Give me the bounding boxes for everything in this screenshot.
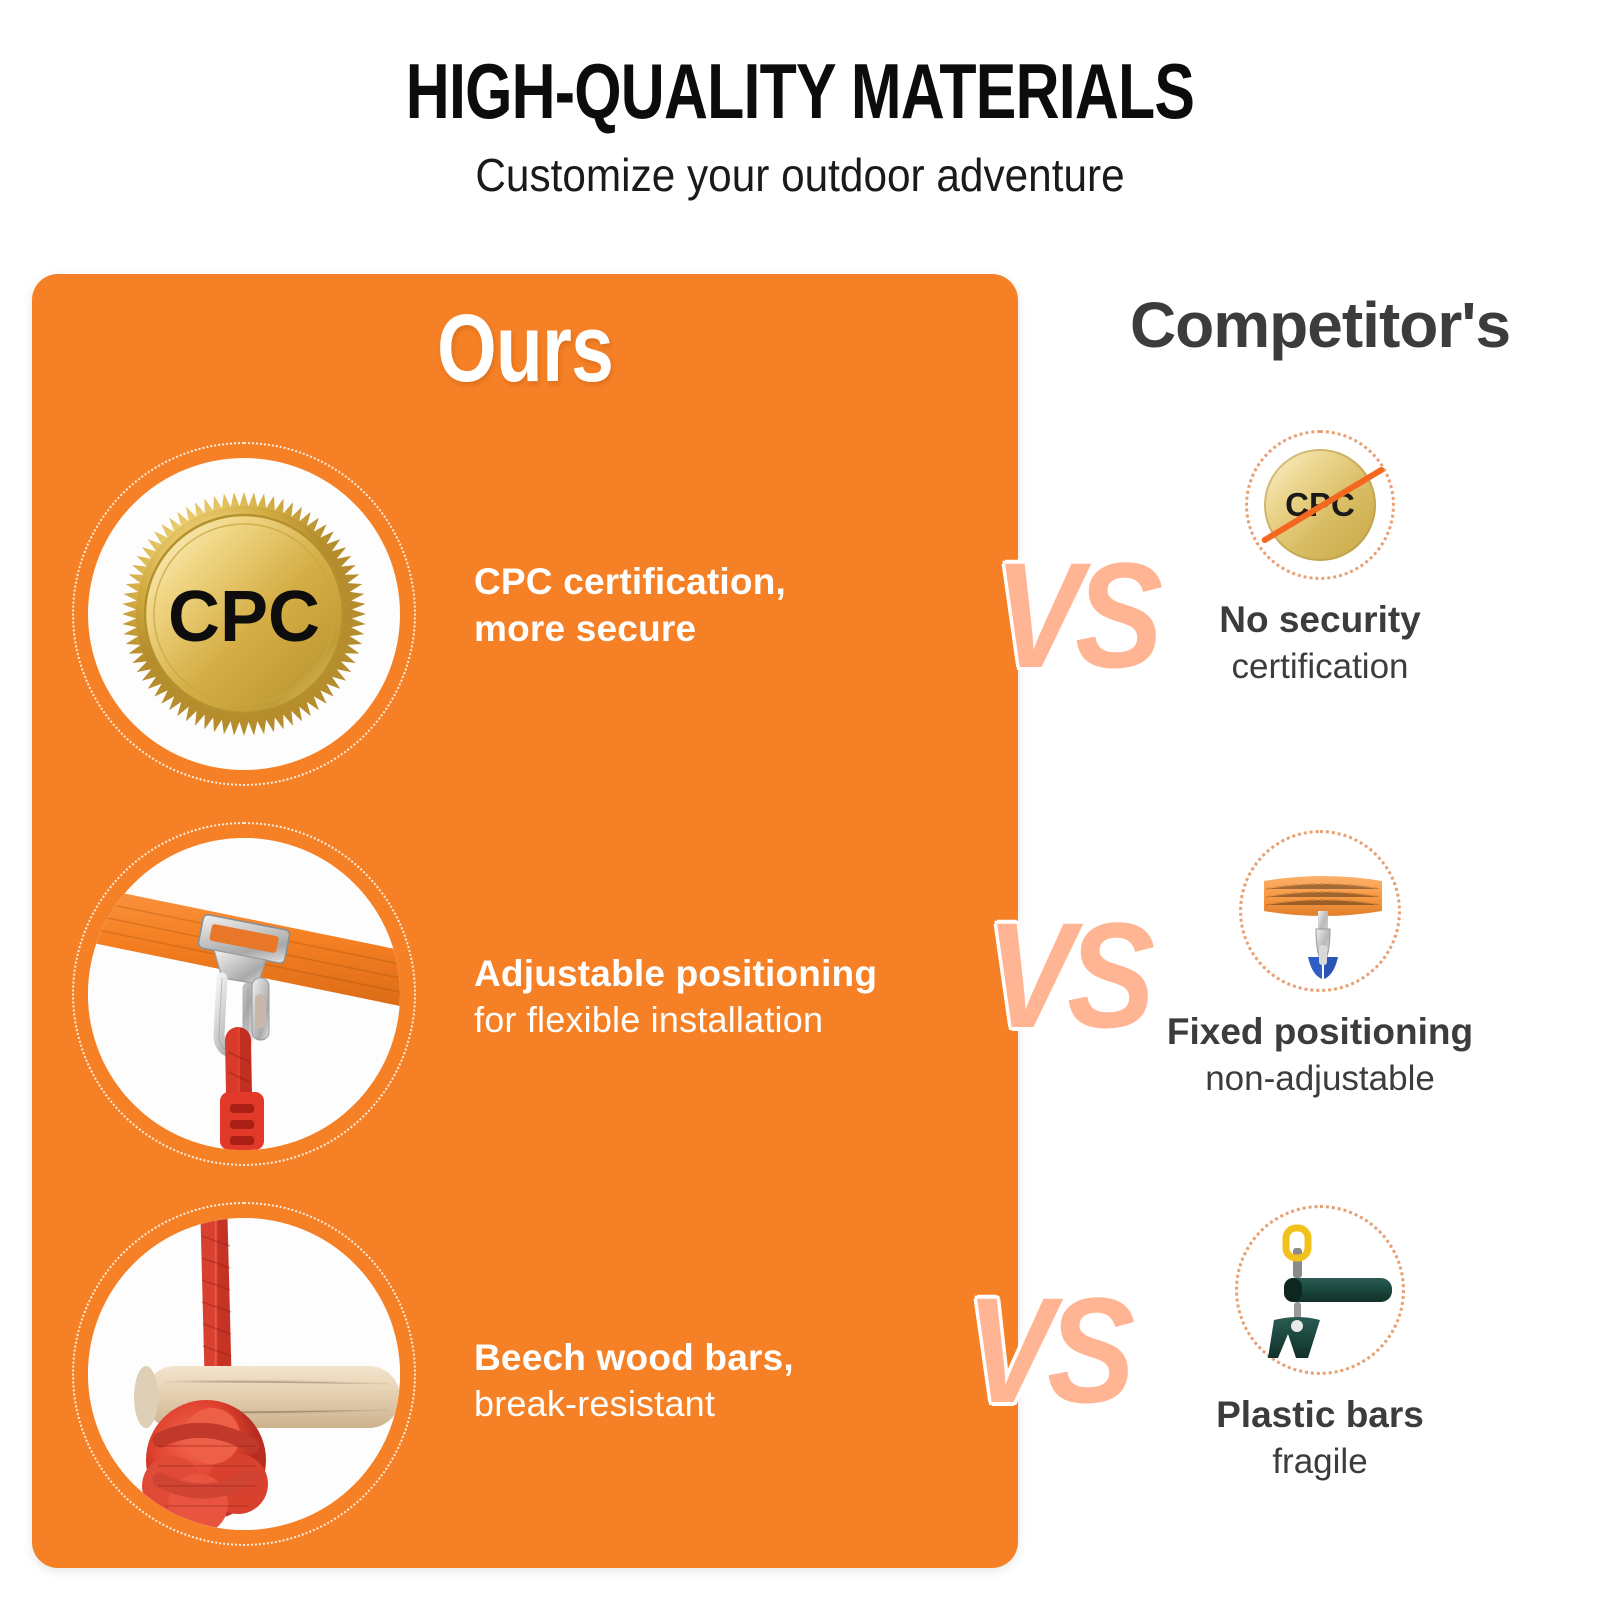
strap-carabiner-image xyxy=(88,838,400,1150)
vs-badge-3: VS xyxy=(966,1275,1128,1425)
feature-line-1: CPC certification, xyxy=(474,558,786,605)
ours-panel: Ours xyxy=(32,274,1018,1568)
ours-feature-text-adjustable: Adjustable positioning for flexible inst… xyxy=(474,950,877,1043)
crossed-out-cpc-seal-icon: CPC xyxy=(1245,430,1395,580)
competitor-line-1: Plastic bars xyxy=(1060,1391,1580,1439)
cpc-gold-seal-image: CPC xyxy=(88,458,400,770)
ours-heading: Ours xyxy=(131,294,920,404)
beech-wood-bar-image xyxy=(88,1218,400,1530)
feature-line-1: Adjustable positioning xyxy=(474,950,877,997)
plastic-bar-clip-illustration xyxy=(1238,1208,1408,1378)
competitor-feature-plastic-bars: Plastic bars fragile xyxy=(1060,1205,1580,1485)
feature-line-1: Beech wood bars, xyxy=(474,1334,794,1381)
ours-feature-row-beech: Beech wood bars, break-resistant xyxy=(32,1184,1018,1564)
webbing-blue-hook-illustration xyxy=(1242,833,1404,995)
gold-seal-icon: CPC xyxy=(119,489,369,739)
infographic-canvas: HIGH-QUALITY MATERIALS Customize your ou… xyxy=(0,0,1600,1600)
competitor-line-2: fragile xyxy=(1060,1439,1580,1485)
feature-line-2: more secure xyxy=(474,605,786,652)
green-plastic-bar-icon xyxy=(1235,1205,1405,1375)
seal-serrated-edge: CPC xyxy=(119,489,369,739)
orange-webbing-hook-icon xyxy=(1239,830,1401,992)
vs-badge-1: VS xyxy=(994,540,1156,690)
ours-feature-text-cpc: CPC certification, more secure xyxy=(474,558,786,653)
ours-feature-row-cpc: CPC CPC certification, more secure xyxy=(32,424,1018,804)
orange-strap-carabiner-rope-illustration xyxy=(88,838,400,1150)
beech-bar-rope-knot-illustration xyxy=(88,1218,400,1530)
ours-feature-row-adjustable: Adjustable positioning for flexible inst… xyxy=(32,804,1018,1184)
vs-badge-2: VS xyxy=(986,900,1148,1050)
page-subtitle: Customize your outdoor adventure xyxy=(64,148,1536,202)
page-title: HIGH-QUALITY MATERIALS xyxy=(176,46,1424,137)
feature-line-2: break-resistant xyxy=(474,1381,794,1427)
competitor-label: Plastic bars fragile xyxy=(1060,1391,1580,1485)
competitor-heading: Competitor's xyxy=(1060,288,1580,362)
competitor-line-2: non-adjustable xyxy=(1060,1056,1580,1102)
ours-feature-text-beech: Beech wood bars, break-resistant xyxy=(474,1334,794,1427)
feature-line-2: for flexible installation xyxy=(474,997,877,1043)
seal-label: CPC xyxy=(168,577,320,657)
